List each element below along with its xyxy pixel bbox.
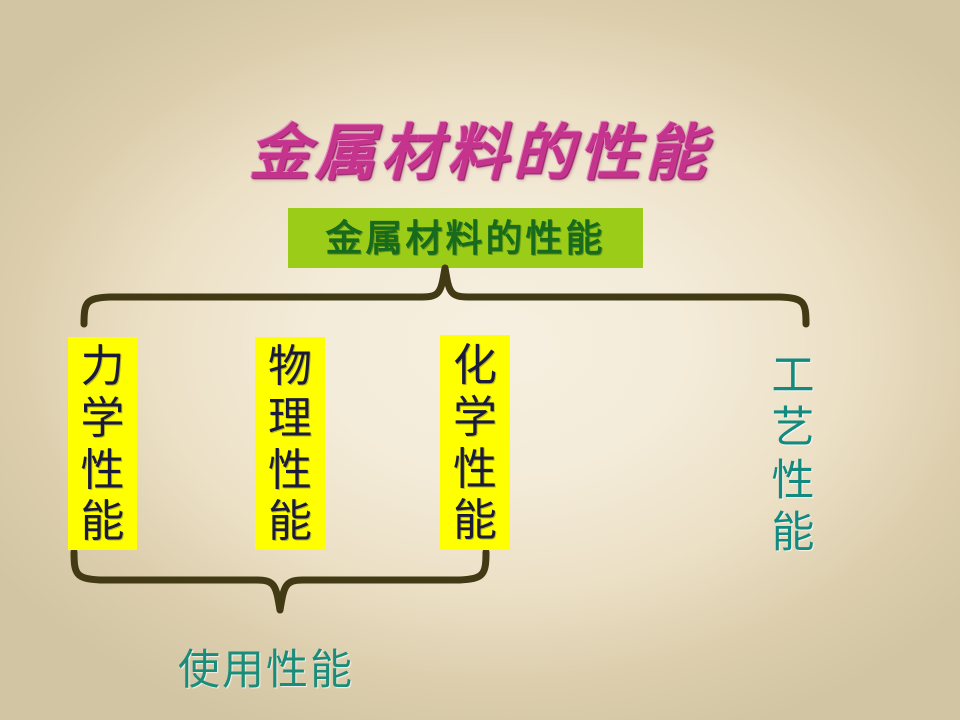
technology-char: 工 — [772, 350, 815, 402]
category-char: 力 — [81, 341, 125, 393]
technology-char: 艺 — [772, 402, 815, 454]
category-char: 性 — [81, 445, 125, 497]
technology-performance-label: 工 艺 性 能 — [762, 350, 824, 560]
category-box-physical[interactable]: 物 理 性 能 — [255, 337, 325, 550]
usage-performance-label: 使用性能 — [178, 636, 354, 697]
bottom-curly-brace — [60, 548, 510, 618]
category-char: 物 — [268, 341, 312, 393]
technology-char: 性 — [772, 455, 815, 507]
category-char: 学 — [453, 392, 497, 444]
top-curly-brace — [70, 262, 820, 328]
category-char: 理 — [268, 393, 312, 445]
category-char: 性 — [453, 444, 497, 496]
page-title: 金属材料的性能 — [0, 122, 960, 186]
category-char: 能 — [268, 496, 312, 548]
technology-char: 能 — [772, 507, 815, 559]
category-char: 能 — [453, 495, 497, 547]
category-char: 性 — [268, 445, 312, 497]
category-char: 能 — [81, 496, 125, 548]
slide-canvas: 金属材料的性能 金属材料的性能 力 学 性 能 物 理 性 能 化 学 性 能 … — [0, 0, 960, 720]
root-node-label: 金属材料的性能 — [326, 220, 606, 257]
root-node-box: 金属材料的性能 — [288, 208, 643, 268]
category-char: 化 — [453, 340, 497, 392]
category-box-chemical[interactable]: 化 学 性 能 — [440, 335, 510, 550]
category-box-mechanical[interactable]: 力 学 性 能 — [68, 337, 137, 550]
category-char: 学 — [81, 393, 125, 445]
